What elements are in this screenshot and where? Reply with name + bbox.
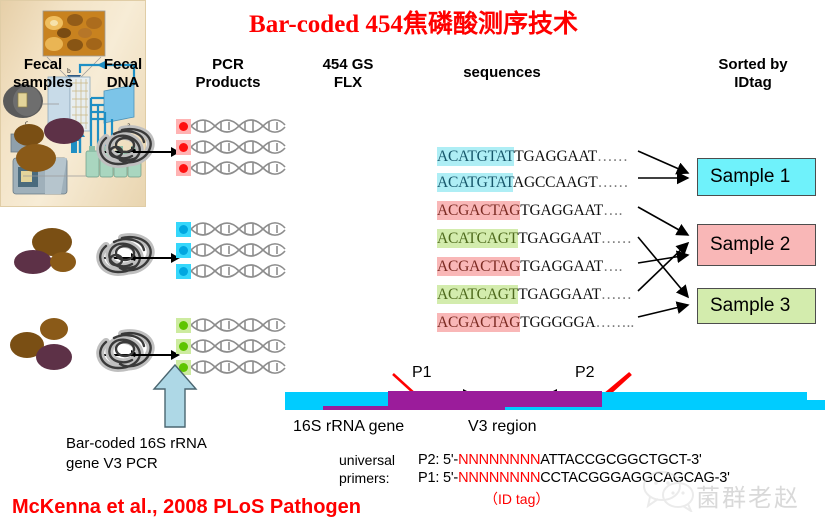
sample-box-3[interactable]: Sample 3 [697,288,816,324]
sample-label: Sample 2 [710,234,790,256]
sequence-barcode: ACATGTAT [437,147,514,166]
page-title: Bar-coded 454焦磷酸测序技术 [0,4,827,40]
sequence-row: ACATCAGTTGAGGAAT…… [437,230,632,248]
sequence-ellipsis: …….. [596,314,635,331]
sequence-row: ACATCAGTTGAGGAAT…… [437,286,632,304]
sequence-row: ACGACTAGTGAGGAAT…. [437,258,622,276]
sequence-body: TGAGGAAT [518,230,601,247]
sequence-barcode: ACATGTAT [437,173,513,192]
sequence-body: TGGGGGA [520,314,595,331]
arrow-dna-to-pcr-1 [133,147,181,157]
fecal-sample-blobs-3 [10,318,94,378]
sequence-ellipsis: …. [603,202,622,219]
primer-p1-label: P1 [412,364,432,382]
column-header-fecal-samples: Fecal samples [0,56,86,91]
sequence-row: ACGACTAGTGGGGGA…….. [437,314,634,332]
pcr-note: Bar-coded 16S rRNA gene V3 PCR [66,434,281,473]
watermark-text: 菌群老赵 [696,478,800,513]
arrow-dna-to-pcr-2 [133,253,181,263]
column-header-sorted-by-idtag: Sorted by IDtag [680,56,826,91]
gene-label: 16S rRNA gene [293,417,404,437]
sequence-row: ACGACTAGTGAGGAAT…. [437,202,622,220]
sequence-row: ACATGTATTGAGGAAT…… [437,148,628,166]
slide-canvas: Bar-coded 454焦磷酸测序技术 Fecal samples Fecal… [0,0,827,529]
v3-region-bar [388,391,602,407]
pcr-products-1 [176,119,286,183]
wechat-icon [640,468,696,517]
column-header-pcr-products: PCR Products [172,56,284,91]
sample-label: Sample 3 [710,295,790,317]
primer-p2-label: P2 [575,364,595,382]
sequence-barcode: ACGACTAG [437,313,520,332]
sequence-barcode: ACATCAGT [437,229,518,248]
sequence-body: TGAGGAAT [520,258,603,275]
citation-text: McKenna et al., 2008 PLoS Pathogen [12,496,361,519]
sequence-ellipsis: …… [598,174,629,191]
sequence-body: TGAGGAAT [518,286,601,303]
column-header-fecal-dna: Fecal DNA [85,56,161,91]
sequence-ellipsis: …… [597,148,628,165]
primer-p2-sequence: P2: 5'-NNNNNNNNATTACCGCGGCTGCT-3' [418,452,702,468]
v3-region-label: V3 region [468,417,537,437]
id-tag-label: （ID tag） [484,489,549,509]
sequence-ellipsis: …. [603,258,622,275]
pcr-up-arrow [152,363,198,434]
sequence-barcode: ACGACTAG [437,201,520,220]
fecal-sample-blobs-1 [14,118,92,174]
sample-box-1[interactable]: Sample 1 [697,158,816,196]
sequence-ellipsis: …… [601,230,632,247]
sequence-body: TGAGGAAT [520,202,603,219]
sorting-arrows [636,145,698,335]
sequence-row: ACATGTATAGCCAAGT…… [437,174,629,192]
sequence-barcode: ACGACTAG [437,257,520,276]
sequence-body: AGCCAAGT [513,174,598,191]
column-header-sequences: sequences [430,64,574,82]
sample-box-2[interactable]: Sample 2 [697,224,816,266]
pcr-products-2 [176,222,286,286]
arrow-dna-to-pcr-3 [133,350,181,360]
sequence-barcode: ACATCAGT [437,285,518,304]
universal-primers-caption: universal primers: [339,452,395,487]
sample-label: Sample 1 [710,166,790,188]
column-header-454-gs-flx: 454 GS FLX [300,56,396,91]
fecal-sample-blobs-2 [14,228,94,286]
sequence-ellipsis: …… [601,286,632,303]
sequence-body: TGAGGAAT [514,148,597,165]
